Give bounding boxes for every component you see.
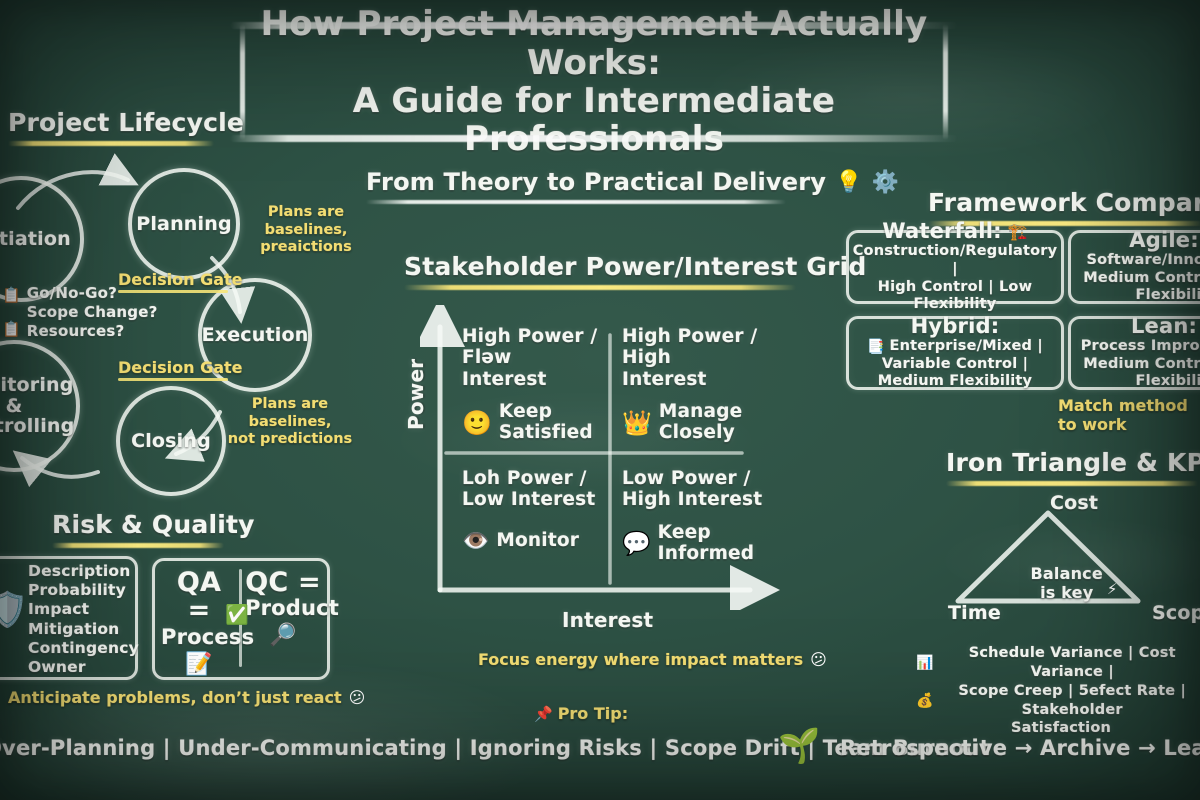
check-mark-icon: ✅ (225, 603, 249, 626)
title-line-2: A Guide for Intermediate Professionals (236, 82, 952, 159)
lightning-bolt-icon: ⚡ (1107, 580, 1118, 598)
money-bag-icon: 💰 (916, 693, 933, 709)
framework-line-1: Enterprise/Mixed | (890, 338, 1043, 356)
lifecycle-phase-planning: Planning (128, 168, 240, 280)
triangle-center-block: Balance is key ⚡ (1026, 565, 1122, 602)
risk-heading-block: Risk & Quality (52, 510, 255, 548)
decision-gate-2: Decision Gate (118, 358, 243, 381)
title-rule-bottom (230, 135, 958, 142)
triangle-center-text: Balance is key (1031, 565, 1103, 602)
risk-register-item: Contingency (28, 639, 139, 658)
pro-tip-label: Pro Tip: (558, 704, 628, 723)
lifecycle-phase-closing: Closing (116, 386, 226, 496)
gear-icon: ⚙️ (872, 170, 899, 195)
kpi-line-2: Scope Creep | 5efect Rate | Stakeholder (938, 682, 1200, 720)
framework-card-hybrid: Hybrid: 📑 Enterprise/Mixed | Variable Co… (846, 316, 1064, 390)
qc-label: QC = (245, 569, 321, 597)
speech-bubble-icon: 💬 (622, 530, 651, 557)
kpi-list-block: 📊 Schedule Variance | Cost Variance | 💰 … (916, 644, 1200, 738)
qc-value: Product (245, 597, 321, 619)
framework-name: Hybrid: (911, 315, 1000, 338)
quadrant-title: High Power / Fləw Interest (462, 326, 600, 390)
risk-register-item: Description (28, 562, 139, 581)
grid-x-axis-label: Interest (562, 608, 653, 632)
grid-quadrant-low-power-high-interest: Low Power / High Interest 💬 Keep Informe… (622, 468, 764, 564)
grid-heading: Stakeholder Power/Interest Grid (404, 252, 867, 281)
title-rule-top (230, 22, 958, 29)
construction-icon: 🏗️ (1008, 222, 1028, 241)
framework-name: Agile: (1129, 229, 1199, 252)
grid-tagline: Focus energy where impact matters (478, 650, 803, 669)
decision-gate-underline (118, 378, 228, 381)
risk-underline (52, 543, 224, 548)
quadrant-action: Manage Closely (659, 402, 743, 443)
frameworks-tagline: Match method to work (1058, 396, 1200, 434)
crown-icon: 👑 (622, 409, 652, 437)
framework-line-1: Construction/Regulatory | (853, 243, 1058, 278)
grid-y-axis-label: Power (404, 359, 428, 430)
risk-register-list: Description Probability Impact Mitigatio… (28, 562, 139, 677)
framework-line-2: Variable Control | Medium Flexibility (853, 356, 1057, 391)
quadrant-title: Low Power / High Interest (622, 468, 764, 511)
eye-icon: 👁️ (462, 529, 489, 554)
lifecycle-note-top: Plans are baselines, preaictions (256, 204, 356, 257)
risk-register-item: Mitigation (28, 620, 139, 639)
qa-value: Process (161, 626, 237, 648)
quadrant-action: Keep Informed (658, 523, 755, 564)
confused-face-icon: 😕 (810, 650, 827, 669)
subtitle-block: From Theory to Practical Delivery 💡 ⚙️ (366, 168, 856, 204)
grid-quadrant-high-power-high-interest: High Power / High Interest 👑 Manage Clos… (622, 326, 762, 444)
lifecycle-phase-label: Closing (131, 431, 211, 452)
document-icon: 📑 (867, 339, 884, 355)
chalkboard-infographic: How Project Management Actually Works: A… (0, 0, 1200, 800)
lifecycle-phase-label: Execution (202, 325, 309, 346)
risk-register-item: Owner (28, 658, 139, 677)
framework-name: Lean: (1131, 315, 1197, 338)
framework-line-2: Medium Control | High Flexibility (1075, 270, 1200, 305)
risk-tagline: Anticipate problems, don’t just react (8, 688, 342, 707)
quadrant-title: Loh Power / Low Interest (462, 468, 602, 511)
confused-face-icon: 😕 (349, 688, 366, 707)
frameworks-heading: Framework Comparison (928, 188, 1200, 217)
quadrant-action: Monitor (496, 531, 579, 552)
lifecycle-phase-label: Monitoring & Controlling (0, 375, 76, 437)
lifecycle-heading: Project Lifecycle (8, 108, 244, 137)
clipboard-search-icon: 📝 (185, 652, 212, 677)
pin-icon: 📌 (534, 705, 553, 723)
kpi-line-1: Schedule Variance | Cost Variance | (938, 644, 1200, 682)
smiley-face-icon: 🙂 (462, 409, 492, 437)
qc-cell: QC = Product 🔎 (245, 569, 321, 648)
gate-question: Resources? (27, 322, 158, 341)
seedling-icon: 🌱 (778, 726, 820, 766)
lifecycle-heading-block: Project Lifecycle (8, 108, 244, 146)
grid-quadrant-low-power-low-interest: Loh Power / Low Interest 👁️ Monitor (462, 468, 602, 554)
qa-qc-box: QA = Process 📝 QC = Product 🔎 ✅ (152, 558, 330, 680)
bar-chart-icon: 📊 (916, 655, 933, 671)
framework-name: Waterfall: (882, 220, 1001, 243)
risk-tagline-block: Anticipate problems, don’t just react 😕 (8, 688, 365, 707)
risk-heading: Risk & Quality (52, 510, 255, 539)
pro-tip-block: 📌 Pro Tip: (534, 704, 628, 723)
framework-line-2: High Control | Low Flexibility (853, 279, 1057, 314)
gate-question: Go/No-Go? (27, 284, 158, 303)
main-title-box: How Project Management Actually Works: A… (236, 22, 952, 142)
framework-line-2: Medium Control | High Flexibility (1075, 356, 1200, 391)
triangle-corner-time: Time (948, 602, 1001, 624)
iron-triangle-heading-block: Iron Triangle & KPIs (946, 448, 1200, 486)
triangle-corner-scope: Scope (1152, 602, 1200, 624)
subtitle-underline (366, 200, 786, 204)
magnifier-icon: 🔎 (269, 623, 296, 648)
grid-quadrant-high-power-low-interest: High Power / Fləw Interest 🙂 Keep Satisf… (462, 326, 600, 444)
framework-card-waterfall: Waterfall: 🏗️ Construction/Regulatory | … (846, 230, 1064, 304)
clipboard-icon: 📋 (2, 320, 21, 338)
grid-heading-block: Stakeholder Power/Interest Grid (404, 252, 867, 290)
iron-triangle-underline (946, 481, 1198, 486)
lifecycle-underline (8, 141, 214, 146)
risk-register-item: Probability (28, 581, 139, 600)
footer-closing: Retrospective → Archive → Learn → Improv… (840, 736, 1200, 760)
quadrant-action: Keep Satisfied (499, 402, 593, 443)
risk-register-item: Impact (28, 600, 139, 619)
lifecycle-phase-label: Planning (136, 214, 232, 235)
lifecycle-phase-label: Initiation (0, 229, 71, 250)
grid-underline (404, 285, 796, 290)
clipboard-icon: 📋 (2, 286, 21, 304)
framework-line-1: Software/Innovation | (1086, 252, 1200, 270)
shield-icon: 🛡️ (0, 590, 28, 630)
gate-questions-block: 📋 📋 Go/No-Go? Scope Change? Resources? (2, 284, 158, 341)
grid-tagline-block: Focus energy where impact matters 😕 (478, 650, 827, 669)
iron-triangle-heading: Iron Triangle & KPIs (946, 448, 1200, 477)
decision-gate-label: Decision Gate (118, 358, 243, 377)
title-line-1: How Project Management Actually Works: (236, 5, 952, 82)
title-rule-right (943, 24, 948, 140)
framework-card-agile: Agile: 💻 Software/Innovation | Medium Co… (1068, 230, 1200, 304)
gate-question: Scope Change? (27, 303, 158, 322)
subtitle-text: From Theory to Practical Delivery (366, 168, 826, 196)
framework-card-lean: Lean: 🔄 Process Improvement | Medium Con… (1068, 316, 1200, 390)
lightbulb-icon: 💡 (835, 170, 862, 195)
quadrant-title: High Power / High Interest (622, 326, 762, 390)
framework-line-1: Process Improvement | (1081, 338, 1200, 356)
lifecycle-note-bottom: Plans are baselines, not predictions (222, 396, 358, 449)
